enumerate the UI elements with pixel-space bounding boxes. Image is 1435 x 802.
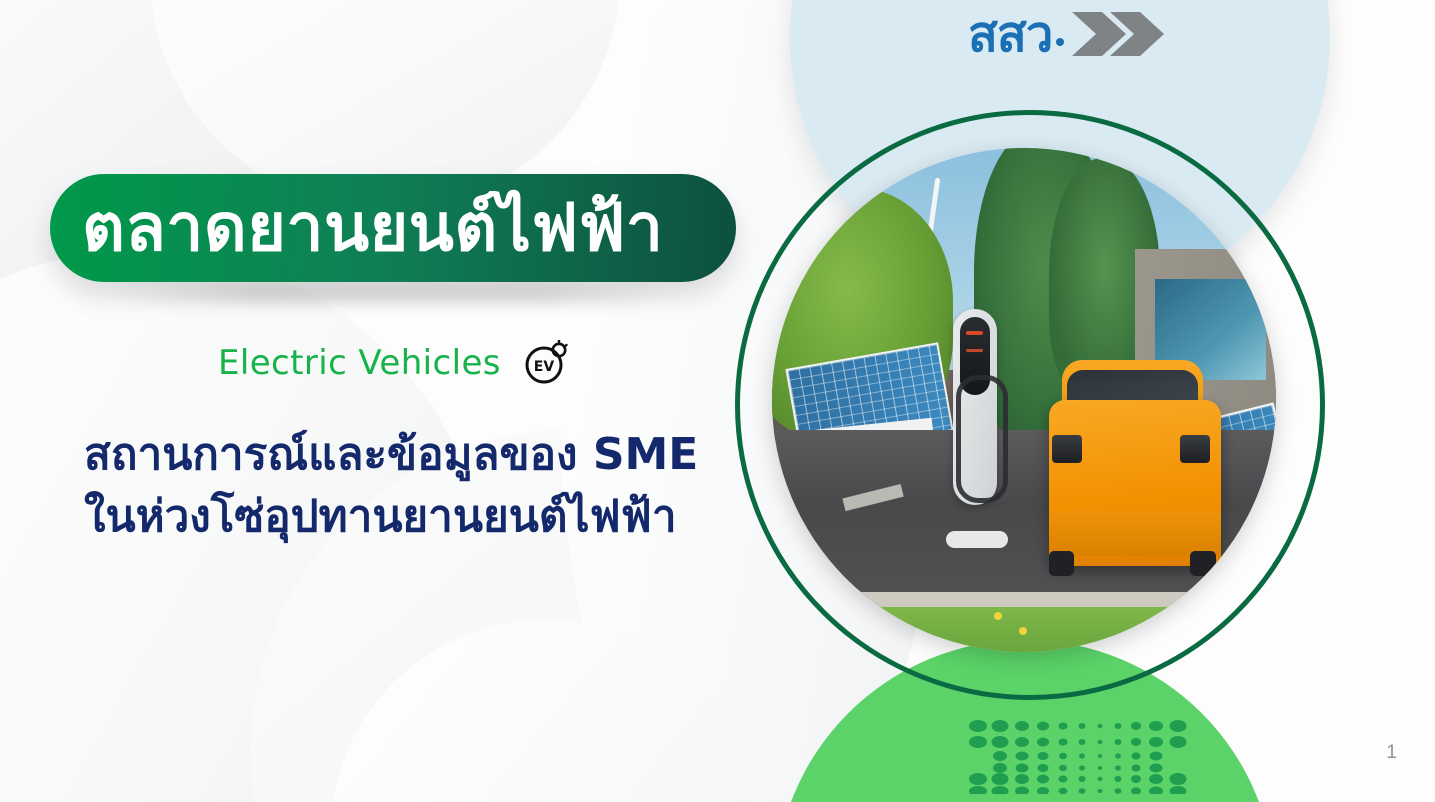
subtitle-en: Electric Vehicles — [218, 343, 501, 383]
car-tyre — [1190, 551, 1215, 576]
hero-photo-circle — [772, 148, 1276, 652]
brand-logo-text: สสว — [968, 10, 1052, 59]
car-taillight — [1052, 435, 1082, 463]
slide-root: สสว ตลาดยานยนต์ไฟฟ้า Electric Vehicles E… — [0, 0, 1435, 802]
car-taillight — [1180, 435, 1210, 463]
double-chevron-icon — [1068, 8, 1164, 60]
logo-dot — [1056, 38, 1064, 46]
charging-cable — [956, 375, 1008, 503]
subtitle-th-block: สถานการณ์และข้อมูลของ SME ในห่วงโซ่อุปทา… — [84, 424, 744, 547]
svg-text:EV: EV — [534, 359, 555, 375]
subtitle-th-line1: สถานการณ์และข้อมูลของ SME — [84, 424, 744, 486]
ev-plug-badge-icon: EV — [523, 340, 569, 386]
flower — [1019, 627, 1027, 635]
subtitle-th-line2: ในห่วงโซ่อุปทานยานยนต์ไฟฟ้า — [84, 486, 744, 548]
brand-logo: สสว — [968, 8, 1164, 60]
subtitle-en-row: Electric Vehicles EV — [218, 340, 569, 386]
page-number: 1 — [1386, 742, 1397, 764]
hero-photo — [772, 148, 1276, 652]
page-title-pill: ตลาดยานยนต์ไฟฟ้า — [50, 174, 736, 282]
dot-grid-pattern — [968, 718, 1196, 794]
page-title: ตลาดยานยนต์ไฟฟ้า — [50, 195, 663, 261]
car-bumper — [1049, 511, 1220, 556]
car-tyre — [1049, 551, 1074, 576]
title-shadow — [110, 283, 680, 303]
charger-base — [946, 531, 1008, 548]
flower — [994, 612, 1002, 620]
